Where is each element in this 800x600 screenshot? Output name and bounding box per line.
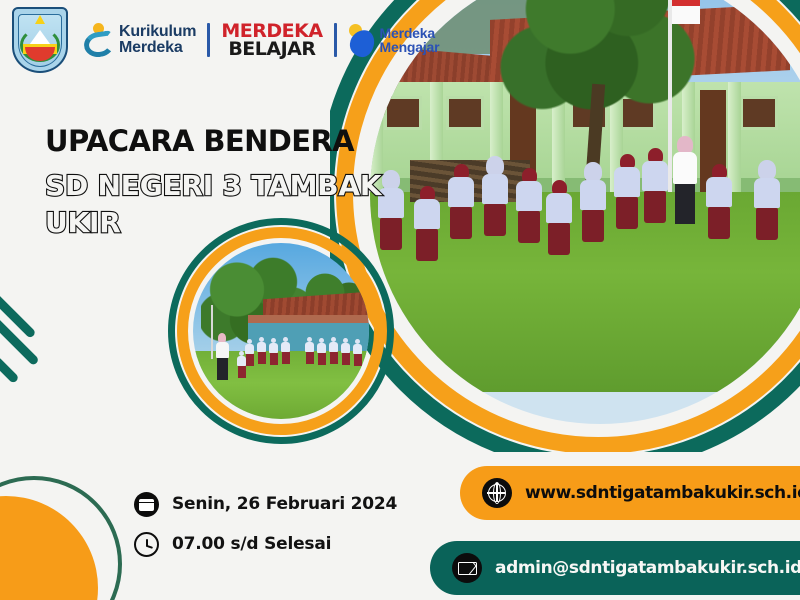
inset-student (353, 339, 362, 366)
inset-student (257, 337, 266, 364)
main-photo-right-extension (408, 0, 800, 400)
mm-line1: Merdeka (380, 26, 440, 40)
website-badge[interactable]: www.sdntigatambakukir.sch.id (460, 466, 800, 520)
event-time-row: 07.00 s/d Selesai (134, 528, 397, 560)
event-info-block: Senin, 26 Februari 2024 07.00 s/d Selesa… (134, 488, 397, 568)
header-logo-bar: Kurikulum Merdeka MERDEKA BELAJAR Merdek… (0, 0, 440, 80)
inset-photo-assembly (193, 243, 369, 419)
inset-student (305, 337, 314, 364)
page-title: UPACARA BENDERA (45, 124, 354, 158)
km-line2: Merdeka (119, 40, 196, 56)
calendar-icon (134, 492, 159, 517)
mb-line2: BELAJAR (221, 40, 322, 58)
kurikulum-merdeka-label: Kurikulum Merdeka (119, 24, 196, 57)
inset-student (281, 337, 290, 364)
globe-icon (482, 478, 512, 508)
inset-student (237, 351, 246, 378)
kurikulum-merdeka-icon (84, 23, 114, 57)
inset-student (245, 339, 254, 366)
logo-divider-2 (334, 23, 337, 57)
inset-teacher (215, 333, 229, 380)
email-text[interactable]: admin@sdntigatambakukir.sch.id (495, 558, 800, 578)
inset-photo-frame (168, 218, 394, 444)
logo-divider-1 (207, 23, 210, 57)
event-date-row: Senin, 26 Februari 2024 (134, 488, 397, 520)
email-badge[interactable]: admin@sdntigatambakukir.sch.id (430, 541, 800, 595)
km-line1: Kurikulum (119, 24, 196, 40)
inset-student (317, 338, 326, 365)
event-time-text: 07.00 s/d Selesai (172, 534, 331, 554)
page-subtitle: SD NEGERI 3 TAMBAK UKIR (45, 168, 395, 242)
kurikulum-merdeka-logo: Kurikulum Merdeka (84, 23, 196, 57)
merdeka-mengajar-logo: Merdeka Mengajar (348, 23, 440, 57)
event-date-text: Senin, 26 Februari 2024 (172, 494, 397, 514)
inset-student (269, 338, 278, 365)
inset-wall-trim (248, 315, 369, 323)
merdeka-belajar-logo: MERDEKA BELAJAR (221, 22, 322, 58)
mm-line2: Mengajar (380, 40, 440, 54)
decor-teal-outline-circle (0, 476, 122, 600)
inset-student (341, 338, 350, 365)
website-text[interactable]: www.sdntigatambakukir.sch.id (525, 483, 800, 503)
poster-canvas: Kurikulum Merdeka MERDEKA BELAJAR Merdek… (0, 0, 800, 600)
inset-student (329, 337, 338, 364)
inset-student (193, 243, 202, 270)
envelope-icon (452, 553, 482, 583)
clock-icon (134, 532, 159, 557)
merdeka-mengajar-icon (348, 23, 376, 57)
kabupaten-shield-emblem (12, 7, 68, 73)
inset-flagpole (211, 305, 213, 359)
merdeka-mengajar-label: Merdeka Mengajar (380, 26, 440, 55)
